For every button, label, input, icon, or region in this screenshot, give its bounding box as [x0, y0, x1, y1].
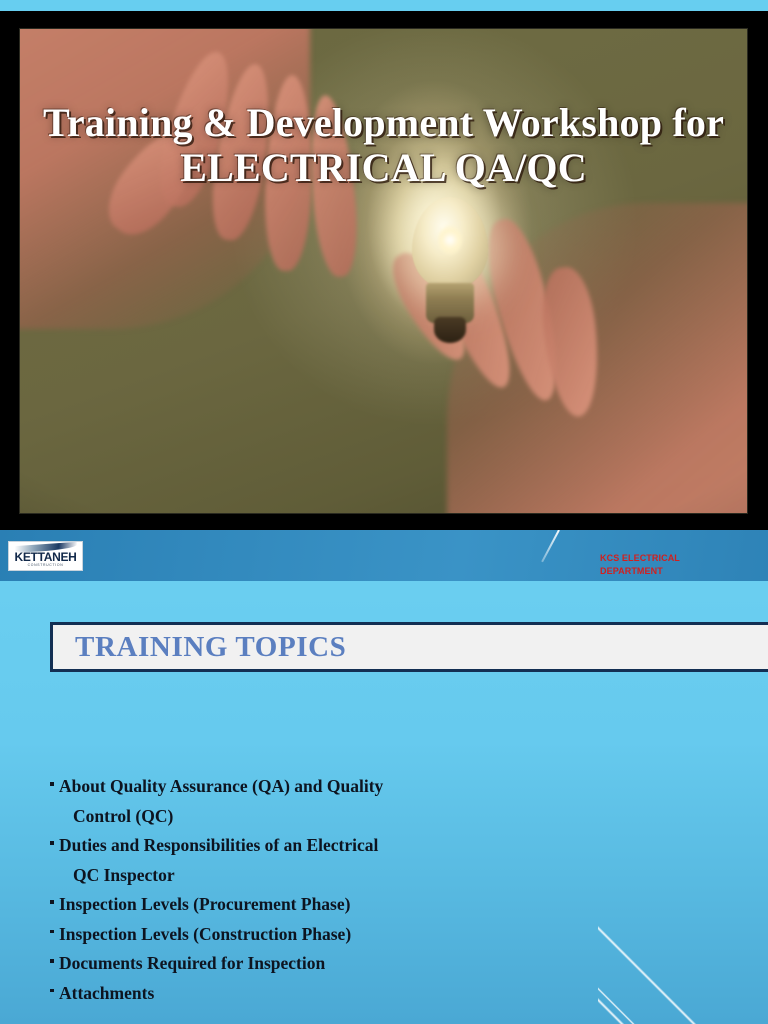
list-item-label: Documents Required for Inspection: [59, 953, 325, 973]
top-blue-strip: [0, 0, 768, 11]
bullet-icon: [50, 782, 54, 786]
list-item: Attachments: [50, 979, 470, 1009]
bullet-icon: [50, 959, 54, 963]
list-item: Inspection Levels (Construction Phase): [50, 920, 470, 950]
list-item-label: Attachments: [59, 983, 154, 1003]
training-topics-list: About Quality Assurance (QA) and Quality…: [50, 772, 470, 1008]
list-item: Documents Required for Inspection: [50, 949, 470, 979]
bullet-icon: [50, 841, 54, 845]
logo-wordmark: KETTANEH: [11, 550, 80, 564]
slide-title-line-3: ELECTRICAL QA/QC: [28, 146, 739, 191]
list-item: Duties and Responsibilities of an Electr…: [50, 831, 470, 890]
corner-line-1: [598, 884, 636, 1024]
list-item: About Quality Assurance (QA) and Quality…: [50, 772, 470, 831]
corner-line-3: [598, 897, 708, 1024]
corner-decoration: [598, 874, 768, 1024]
footer-banner: KETTANEH CONSTRUCTION KCS ELECTRICAL DEP…: [0, 530, 768, 581]
title-slide: Training & Development Workshop for ELEC…: [0, 0, 768, 581]
department-label-line-2: DEPARTMENT: [600, 565, 760, 578]
training-topics-header-box: TRAINING TOPICS: [50, 622, 768, 672]
list-item-label: Duties and Responsibilities of an Electr…: [59, 835, 378, 855]
hero-image-frame: Training & Development Workshop for ELEC…: [20, 29, 747, 513]
list-item-label: Inspection Levels (Construction Phase): [59, 924, 351, 944]
list-item-label: Inspection Levels (Procurement Phase): [59, 894, 350, 914]
department-label-line-1: KCS ELECTRICAL: [600, 552, 760, 565]
slide-title-line-1: Training & Development Workshop: [43, 100, 662, 145]
department-label: KCS ELECTRICAL DEPARTMENT: [600, 552, 760, 578]
list-item-continuation: QC Inspector: [59, 861, 470, 891]
list-item-continuation: Control (QC): [59, 802, 470, 832]
training-topics-title: TRAINING TOPICS: [53, 631, 346, 664]
logo-subtitle: CONSTRUCTION: [9, 563, 82, 567]
bullet-icon: [50, 930, 54, 934]
kettaneh-logo: KETTANEH CONSTRUCTION: [8, 541, 83, 571]
slide-title: Training & Development Workshop for ELEC…: [20, 101, 747, 191]
corner-line-2: [598, 898, 647, 1024]
bullet-icon: [50, 900, 54, 904]
slide-title-line-2: for: [672, 100, 724, 145]
list-item: Inspection Levels (Procurement Phase): [50, 890, 470, 920]
list-item-label: About Quality Assurance (QA) and Quality: [59, 776, 383, 796]
banner-diagonal-accent: [541, 530, 560, 562]
bullet-icon: [50, 989, 54, 993]
